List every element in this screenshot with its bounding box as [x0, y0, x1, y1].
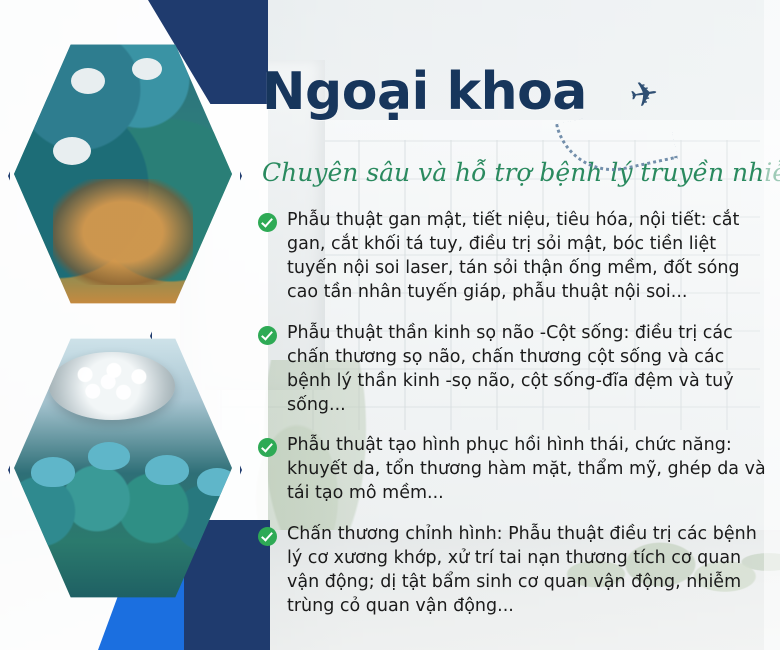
- surgical-cap-1: [31, 457, 75, 487]
- feature-list: Phẫu thuật gan mật, tiết niệu, tiêu hóa,…: [258, 208, 768, 634]
- list-item: Chấn thương chỉnh hình: Phẫu thuật điều …: [258, 522, 768, 619]
- surgical-mask-1: [71, 68, 105, 94]
- list-item: Phẫu thuật thần kinh sọ não -Cột sống: đ…: [258, 321, 768, 418]
- surgical-cap-2: [88, 442, 130, 470]
- check-circle-icon: [258, 326, 277, 345]
- surgical-mask-2: [132, 58, 162, 80]
- operating-lamp-icon: [49, 352, 175, 421]
- poster-canvas: Ngoại khoa Chuyên sâu và hỗ trợ bệnh lý …: [0, 0, 780, 650]
- list-item: Phẫu thuật tạo hình phục hồi hình thái, …: [258, 433, 768, 505]
- list-item: Phẫu thuật gan mật, tiết niệu, tiêu hóa,…: [258, 208, 768, 305]
- airplane-icon: ✈: [628, 76, 661, 114]
- right-edge-strip: [764, 0, 780, 650]
- surgical-mask-3: [53, 137, 91, 165]
- check-circle-icon: [258, 527, 277, 546]
- list-item-text: Chấn thương chỉnh hình: Phẫu thuật điều …: [287, 522, 768, 619]
- surgical-cap-3: [145, 455, 189, 485]
- list-item-text: Phẫu thuật thần kinh sọ não -Cột sống: đ…: [287, 321, 768, 418]
- airplane-decoration: ✈: [560, 78, 760, 188]
- check-circle-icon: [258, 213, 277, 232]
- list-item-text: Phẫu thuật gan mật, tiết niệu, tiêu hóa,…: [287, 208, 768, 305]
- page-title: Ngoại khoa: [262, 62, 587, 122]
- check-circle-icon: [258, 438, 277, 457]
- list-item-text: Phẫu thuật tạo hình phục hồi hình thái, …: [287, 433, 768, 505]
- dotted-trail: [555, 101, 678, 182]
